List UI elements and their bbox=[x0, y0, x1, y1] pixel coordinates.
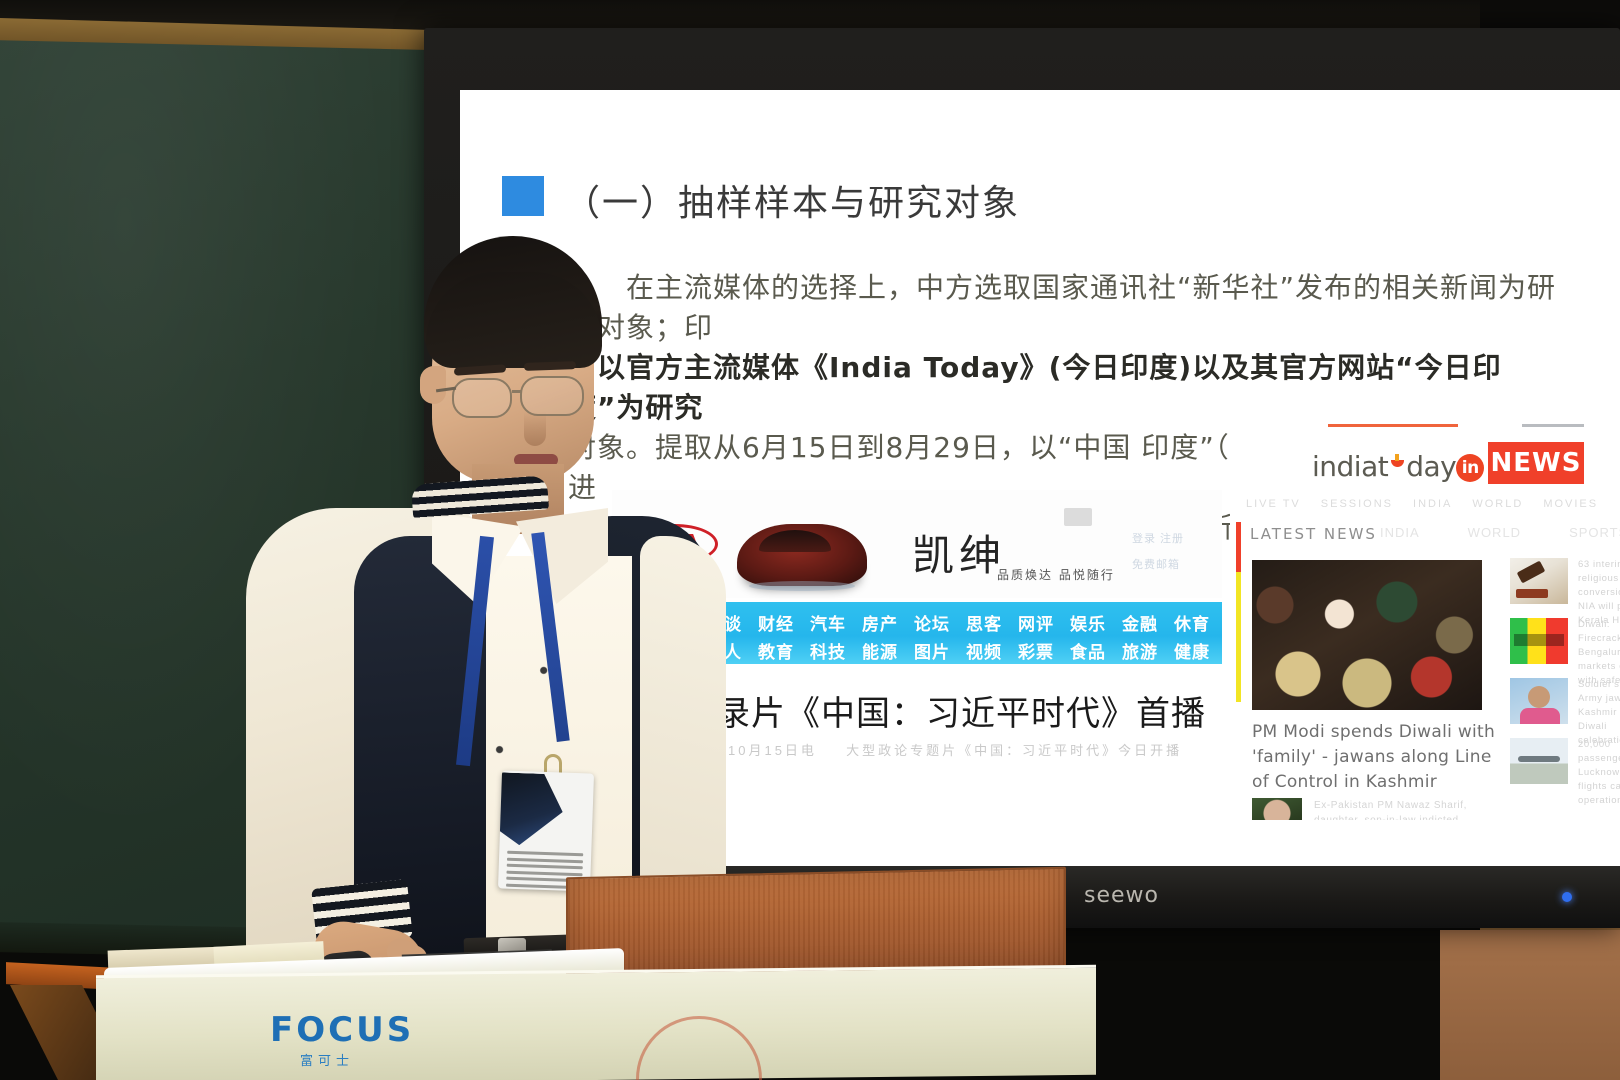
nav-row-secondary[interactable]: 台湾 华人 教育 科技 能源 图片 视频 彩票 食品 旅游 健康 bbox=[654, 636, 1210, 664]
list-item-text: Diwali: Firecracker ban, Bengaluru marke… bbox=[1578, 618, 1620, 664]
latest-news-red-bar bbox=[1236, 522, 1241, 572]
xinhua-navigation-bar[interactable]: 军事 访谈 财经 汽车 房产 论坛 思客 网评 娱乐 金融 休育 bbox=[642, 602, 1222, 664]
nav-item[interactable]: INDIA bbox=[1413, 498, 1452, 510]
slide-accent-square bbox=[502, 176, 544, 216]
india-today-logo[interactable]: indiatdayin bbox=[1312, 450, 1484, 483]
power-led-indicator[interactable] bbox=[1562, 892, 1572, 902]
badge-graphic bbox=[498, 772, 564, 846]
sidebar-news-list: 63 interim religious conversion case: NI… bbox=[1510, 558, 1620, 798]
hair-front bbox=[426, 272, 602, 368]
nav-item[interactable]: 食品 bbox=[1070, 638, 1106, 663]
list-item[interactable]: Soldier's Diwali: Army jawans Kashmir bo… bbox=[1510, 678, 1620, 724]
ad-side-links: 登录 注册免费邮箱 bbox=[1132, 526, 1212, 578]
tab-india[interactable]: INDIA bbox=[1380, 525, 1420, 540]
list-item-text: 20,000 passengers Lucknow airport flight… bbox=[1578, 738, 1620, 784]
nav-item[interactable]: 能源 bbox=[862, 638, 898, 663]
latest-news-label: LATEST NEWS bbox=[1250, 525, 1377, 543]
eyeglasses bbox=[442, 376, 602, 420]
lens-right bbox=[520, 376, 584, 416]
nav-item[interactable]: 彩票 bbox=[1018, 638, 1054, 663]
gavel-thumbnail-icon bbox=[1510, 558, 1568, 604]
nav-item[interactable]: 财经 bbox=[758, 610, 794, 635]
site-logo-placeholder bbox=[1064, 508, 1092, 526]
latest-news-yellow-bar bbox=[1236, 572, 1241, 702]
focus-brand-sub: 富可士 bbox=[300, 1050, 354, 1069]
list-item[interactable]: 63 interim religious conversion case: NI… bbox=[1510, 558, 1620, 604]
lower-wood-wall bbox=[1440, 930, 1620, 1080]
focus-brand-logo: FOCUS bbox=[270, 1010, 414, 1050]
logo-text-right: day bbox=[1406, 450, 1456, 483]
nav-item[interactable]: 视频 bbox=[966, 638, 1002, 663]
conference-badge bbox=[498, 770, 594, 891]
slide-title: （一）抽样样本与研究对象 bbox=[564, 174, 1020, 226]
glasses-bridge bbox=[512, 390, 522, 393]
tab-sports[interactable]: SPORTS bbox=[1569, 525, 1620, 540]
nav-item[interactable]: 房产 bbox=[862, 610, 898, 635]
plane-thumbnail-icon bbox=[1510, 738, 1568, 784]
lens-left bbox=[452, 378, 512, 418]
tab-world[interactable]: WORLD bbox=[1468, 525, 1521, 540]
xinhua-headline[interactable]: 平纪录片《中国：习近平时代》首播 bbox=[646, 686, 1212, 735]
list-item-text: 63 interim religious conversion case: NI… bbox=[1578, 558, 1620, 604]
list-item-text: Soldier's Diwali: Army jawans Kashmir bo… bbox=[1578, 678, 1620, 724]
nav-item[interactable]: 休育 bbox=[1174, 610, 1210, 635]
list-item[interactable]: Diwali: Firecracker ban, Bengaluru marke… bbox=[1510, 618, 1620, 664]
news-badge[interactable]: NEWS bbox=[1488, 442, 1584, 484]
slide-body-line-1: 在主流媒体的选择上，中方选取国家通讯社“新华社”发布的相关新闻为研究对象；印 bbox=[568, 268, 1578, 348]
hero-headline[interactable]: PM Modi spends Diwali with 'family' - ja… bbox=[1252, 720, 1502, 795]
secondary-headline[interactable]: Ex-Pakistan PM Nawaz Sharif, daughter, s… bbox=[1314, 798, 1494, 820]
seewo-brand-logo: seewo bbox=[1084, 883, 1159, 908]
nav-item[interactable]: 思客 bbox=[966, 610, 1002, 635]
nav-item[interactable]: 旅游 bbox=[1122, 638, 1158, 663]
nav-item[interactable]: 健康 bbox=[1174, 638, 1210, 663]
india-today-site-screenshot: indiatdayin NEWS LIVE TV SESSIONS INDIA … bbox=[1230, 420, 1620, 820]
nose bbox=[524, 412, 546, 446]
divider-grey bbox=[1522, 424, 1584, 427]
xinhua-subline: 新华社北京10月15日电 大型政论专题片《中国：习近平时代》今日开播 bbox=[648, 740, 1212, 759]
secondary-thumbnail[interactable] bbox=[1252, 798, 1302, 820]
nav-item[interactable]: 网评 bbox=[1018, 610, 1054, 635]
kia-model-tagline: 品质焕达 品悦随行 bbox=[997, 566, 1115, 583]
diwali-thumbnail-icon bbox=[1510, 618, 1568, 664]
nav-item[interactable]: 科技 bbox=[810, 638, 846, 663]
latest-news-tabs[interactable]: INDIA WORLD SPORTS bbox=[1380, 525, 1620, 540]
list-item[interactable]: 20,000 passengers Lucknow airport flight… bbox=[1510, 738, 1620, 784]
kia-model-name: 凯绅 bbox=[912, 522, 1006, 583]
nav-item[interactable]: 教育 bbox=[758, 638, 794, 663]
car-image bbox=[737, 524, 867, 586]
india-today-nav[interactable]: LIVE TV SESSIONS INDIA WORLD MOVIES bbox=[1246, 498, 1620, 510]
nav-item[interactable]: LIVE TV bbox=[1246, 498, 1301, 510]
nav-item[interactable]: 金融 bbox=[1122, 610, 1158, 635]
diya-lamp-icon bbox=[1388, 454, 1406, 480]
in-domain-badge: in bbox=[1456, 454, 1484, 482]
nav-item[interactable]: 论坛 bbox=[914, 610, 950, 635]
man-thumbnail-icon bbox=[1510, 678, 1568, 724]
logo-text-left: indiat bbox=[1312, 450, 1388, 483]
nav-item[interactable]: 娱乐 bbox=[1070, 610, 1106, 635]
lectern-body bbox=[96, 965, 1096, 1080]
hero-photo[interactable] bbox=[1252, 560, 1482, 710]
nav-item[interactable]: SESSIONS bbox=[1321, 498, 1393, 510]
nav-item[interactable]: 汽车 bbox=[810, 610, 846, 635]
nav-item[interactable]: 图片 bbox=[914, 638, 950, 663]
divider-orange bbox=[1328, 424, 1458, 427]
presentation-photo-scene: （一）抽样样本与研究对象 在主流媒体的选择上，中方选取国家通讯社“新华社”发布的… bbox=[0, 0, 1620, 1080]
slide-body-line-2: 方以官方主流媒体《India Today》(今日印度)以及其官方网站“今日印度”… bbox=[568, 348, 1578, 428]
nav-item[interactable]: MOVIES bbox=[1543, 498, 1598, 510]
nav-item[interactable]: WORLD bbox=[1472, 498, 1523, 510]
nav-row-primary[interactable]: 军事 访谈 财经 汽车 房产 论坛 思客 网评 娱乐 金融 休育 bbox=[654, 608, 1210, 636]
